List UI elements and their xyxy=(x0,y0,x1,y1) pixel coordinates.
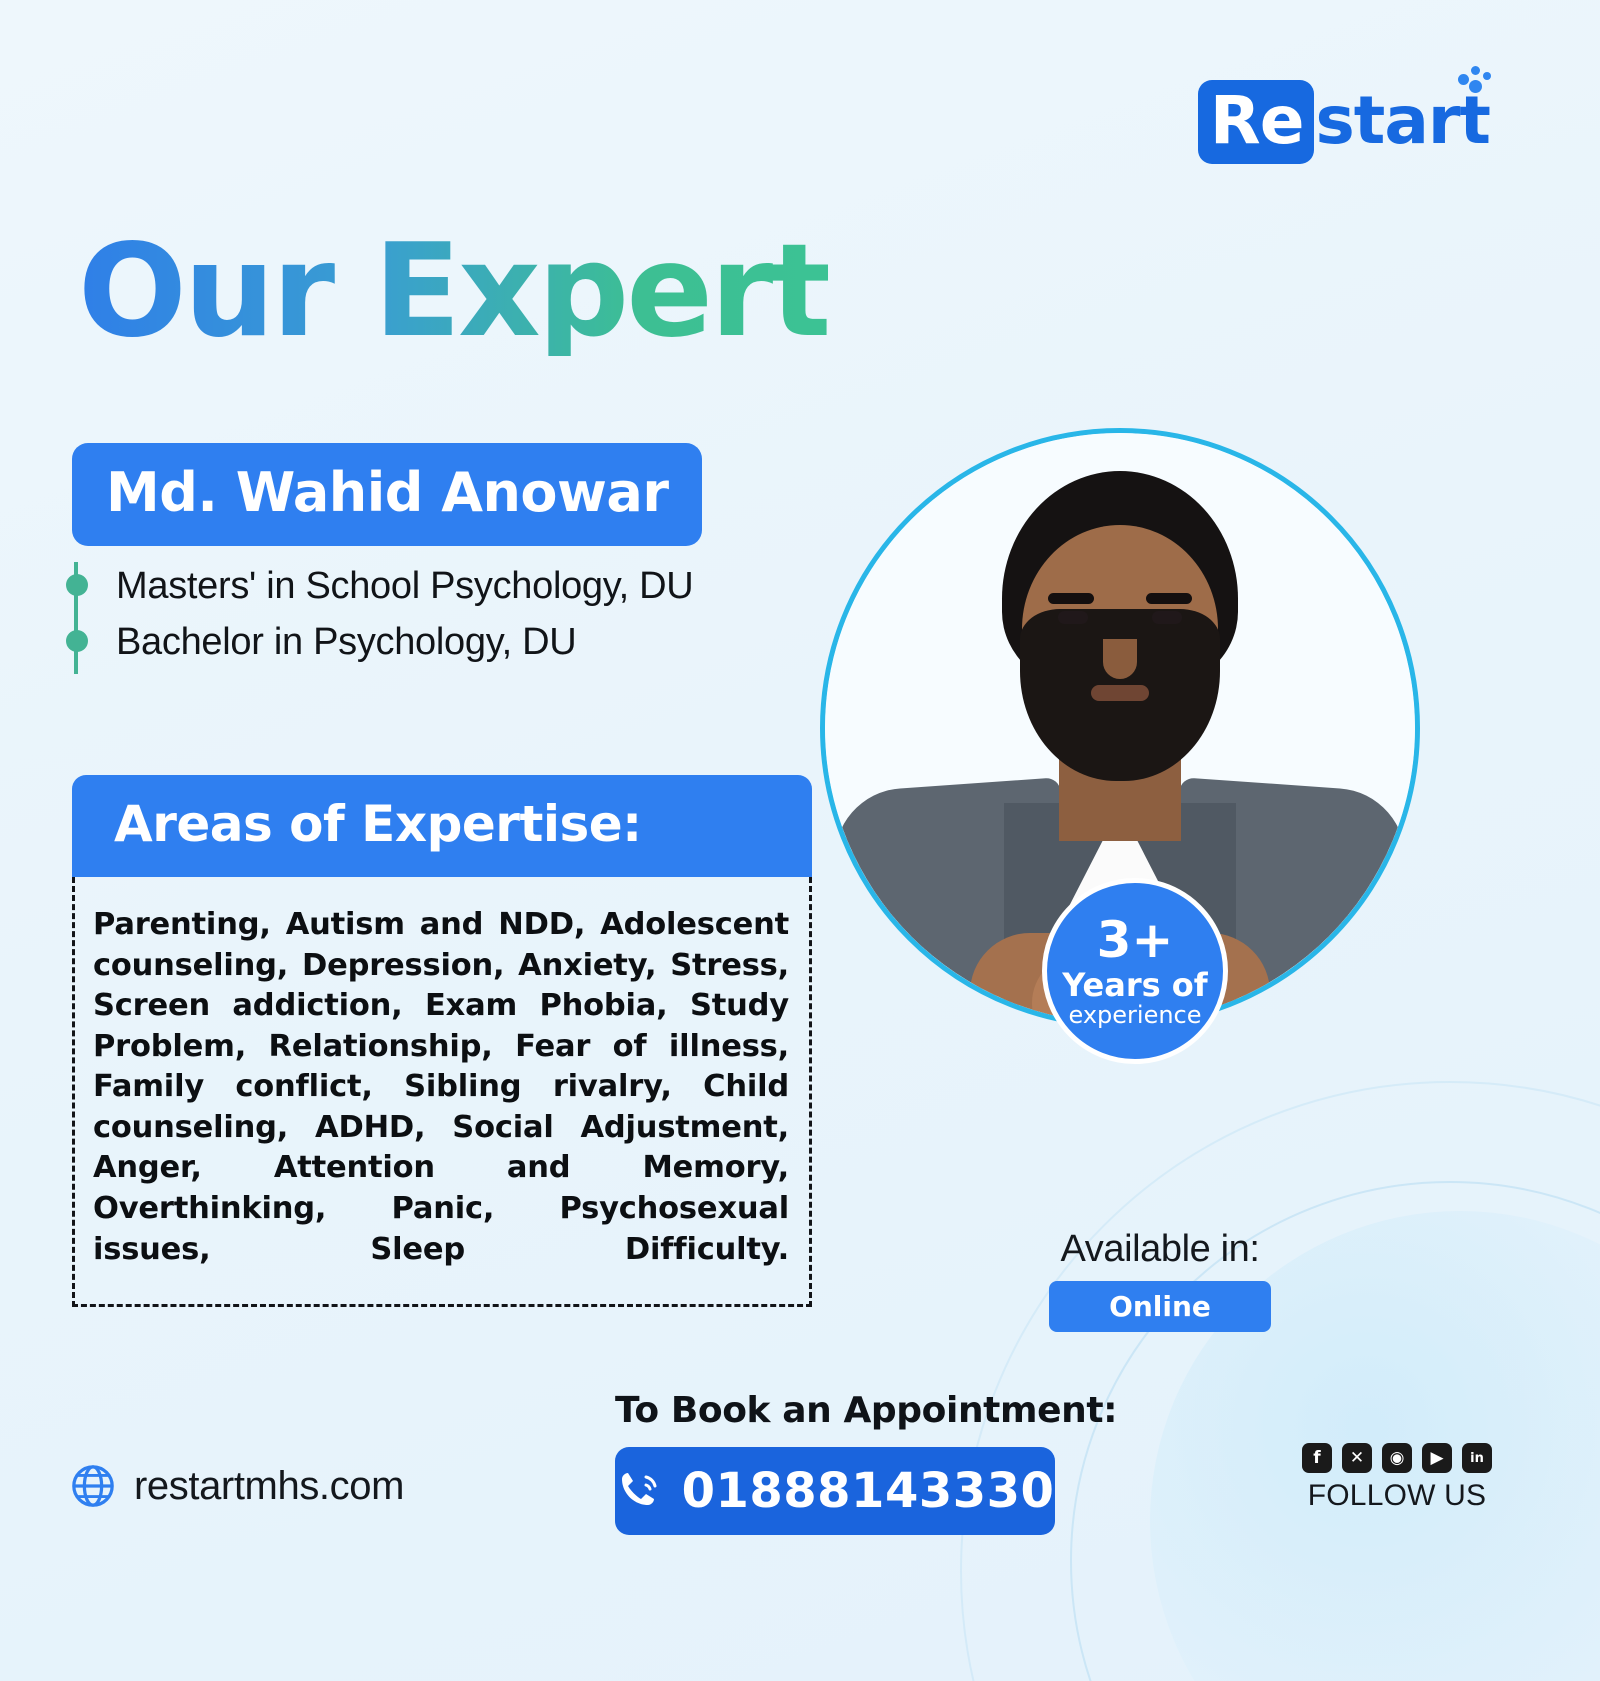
bullet-dot-icon xyxy=(66,630,88,652)
areas-of-expertise-section: Areas of Expertise: Parenting, Autism an… xyxy=(72,775,812,1307)
social-icons-row: f ✕ ◉ ▶ in xyxy=(1302,1443,1492,1473)
linkedin-icon[interactable]: in xyxy=(1462,1443,1492,1473)
expertise-text: Parenting, Autism and NDD, Adolescent co… xyxy=(89,905,793,1270)
website-link[interactable]: restartmhs.com xyxy=(70,1463,404,1509)
credentials-list: Masters' in School Psychology, DU Bachel… xyxy=(74,558,693,670)
bullet-dot-icon xyxy=(66,574,88,596)
phone-ring-icon xyxy=(616,1467,664,1515)
booking-label: To Book an Appointment: xyxy=(615,1390,1055,1431)
youtube-icon[interactable]: ▶ xyxy=(1422,1443,1452,1473)
expert-name-badge: Md. Wahid Anowar xyxy=(72,443,702,546)
experience-word-label: experience xyxy=(1068,1003,1201,1027)
logo-dots-icon xyxy=(1456,66,1496,96)
decorative-arc-outer xyxy=(960,1081,1600,1681)
phone-number: 01888143330 xyxy=(682,1463,1055,1519)
instagram-icon[interactable]: ◉ xyxy=(1382,1443,1412,1473)
list-item: Bachelor in Psychology, DU xyxy=(116,614,693,670)
page-title: Our Expert xyxy=(78,228,828,356)
availability-mode-badge: Online xyxy=(1049,1281,1271,1332)
x-twitter-icon[interactable]: ✕ xyxy=(1342,1443,1372,1473)
logo-re-mark: Re xyxy=(1198,80,1314,164)
list-item: Masters' in School Psychology, DU xyxy=(116,558,693,614)
experience-number: 3+ xyxy=(1097,915,1174,965)
availability-label: Available in: xyxy=(960,1228,1360,1271)
booking-section: To Book an Appointment: 01888143330 xyxy=(615,1390,1055,1535)
experience-years-label: Years of xyxy=(1062,969,1207,1001)
expertise-header: Areas of Expertise: xyxy=(72,775,812,877)
restart-logo[interactable]: Re start xyxy=(1198,80,1490,164)
follow-us-section: f ✕ ◉ ▶ in FOLLOW US xyxy=(1302,1443,1492,1513)
website-url: restartmhs.com xyxy=(134,1464,404,1509)
facebook-icon[interactable]: f xyxy=(1302,1443,1332,1473)
expert-profile-poster: Re start Our Expert Md. Wahid Anowar Mas… xyxy=(0,0,1600,1681)
expertise-body: Parenting, Autism and NDD, Adolescent co… xyxy=(72,877,812,1307)
experience-badge: 3+ Years of experience xyxy=(1042,878,1228,1064)
logo-start-text: start xyxy=(1314,80,1490,164)
phone-button[interactable]: 01888143330 xyxy=(615,1447,1055,1535)
credential-label: Bachelor in Psychology, DU xyxy=(116,621,576,663)
follow-us-label: FOLLOW US xyxy=(1302,1479,1492,1513)
availability-section: Available in: Online xyxy=(960,1228,1360,1332)
globe-icon xyxy=(70,1463,116,1509)
credential-label: Masters' in School Psychology, DU xyxy=(116,565,693,607)
